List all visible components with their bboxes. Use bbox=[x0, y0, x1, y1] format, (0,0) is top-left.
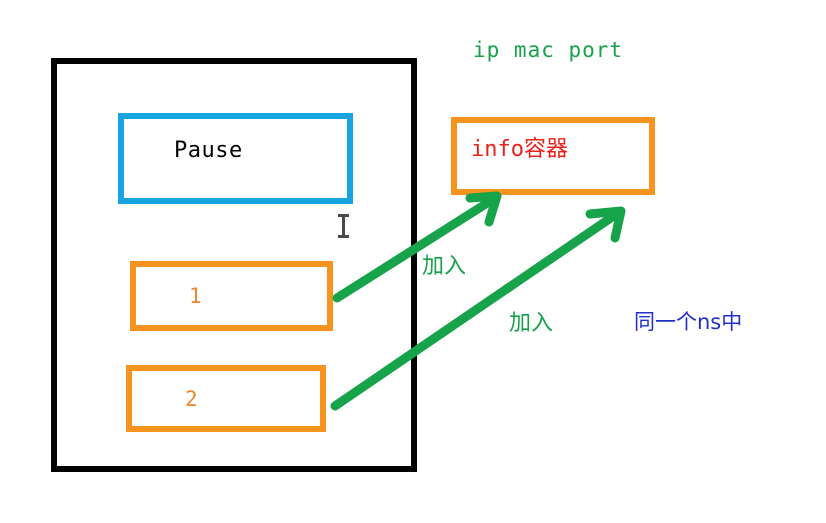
container-1-box[interactable]: 1 bbox=[130, 261, 333, 331]
info-container-box[interactable]: info容器 bbox=[451, 117, 655, 195]
container-2-box[interactable]: 2 bbox=[126, 365, 326, 432]
join-label-2: 加入 bbox=[509, 313, 553, 335]
pause-container-label: Pause bbox=[124, 138, 243, 163]
container-2-label: 2 bbox=[132, 387, 198, 411]
pause-container-box[interactable]: Pause bbox=[118, 113, 353, 204]
text-cursor-icon bbox=[337, 214, 350, 238]
diagram-canvas: Pause 1 2 info容器 ip mac port 加入 加入 同一个ns… bbox=[0, 0, 826, 523]
join-label-1: 加入 bbox=[422, 256, 466, 278]
same-namespace-annotation: 同一个ns中 bbox=[634, 312, 742, 333]
ip-mac-port-annotation: ip mac port bbox=[473, 40, 623, 61]
info-container-label: info容器 bbox=[457, 123, 568, 163]
container-1-label: 1 bbox=[136, 284, 202, 308]
